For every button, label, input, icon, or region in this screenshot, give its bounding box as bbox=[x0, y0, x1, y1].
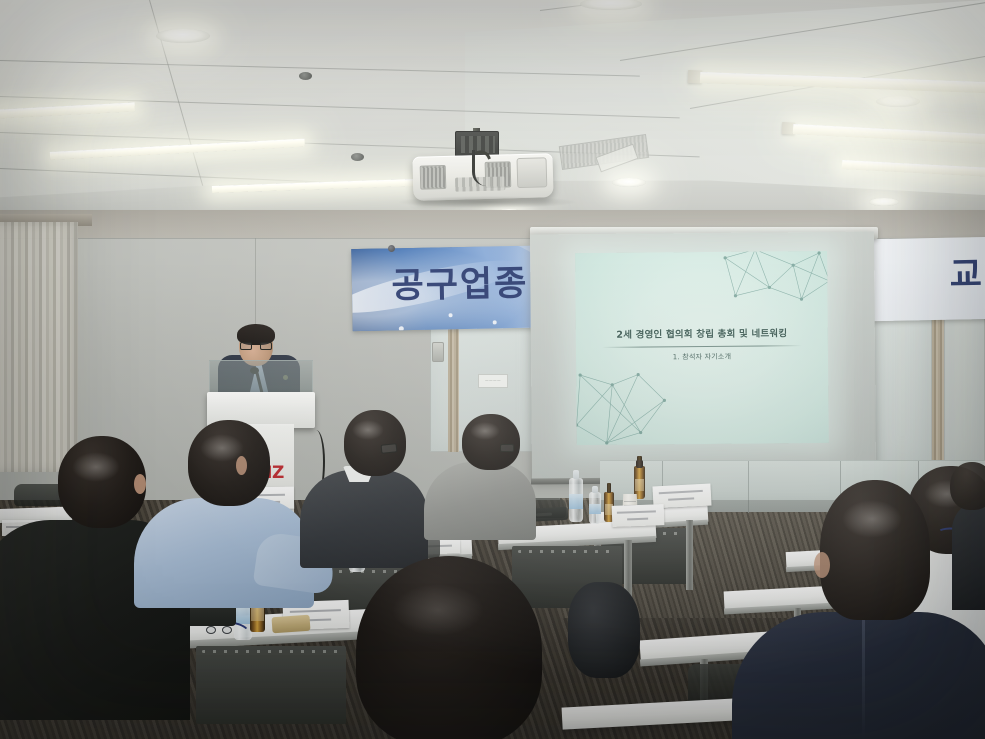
glasses-icon bbox=[381, 443, 398, 454]
backpack bbox=[568, 582, 640, 678]
attendee-head bbox=[58, 436, 146, 528]
ceiling-downlight bbox=[869, 198, 899, 206]
projector-shadow bbox=[399, 196, 575, 208]
hair-highlight bbox=[842, 500, 902, 538]
pencil-pouch bbox=[271, 615, 310, 634]
name-card bbox=[612, 504, 665, 527]
projector-cable bbox=[472, 150, 490, 186]
projector-lens bbox=[517, 157, 548, 188]
ceiling-downlight bbox=[876, 96, 920, 107]
hair-highlight bbox=[392, 584, 484, 636]
hair-highlight bbox=[72, 452, 120, 482]
attendee-torso bbox=[952, 500, 985, 610]
attendee-torso bbox=[732, 612, 985, 739]
slide-divider bbox=[602, 345, 802, 348]
slide-title: 2세 경영인 협의회 창립 총회 및 네트워킹 bbox=[576, 325, 828, 341]
hair-highlight bbox=[352, 420, 384, 440]
network-graphic-icon bbox=[721, 251, 829, 332]
conference-room-photo: ㅡㅡㅡㅡ 공구업종 교육 bbox=[0, 0, 985, 739]
banner-dot bbox=[449, 313, 453, 317]
podium-glass-panel bbox=[209, 360, 313, 396]
projection-screen: 2세 경영인 협의회 창립 총회 및 네트워킹 1. 참석자 자기소개 bbox=[530, 232, 876, 482]
glasses-icon bbox=[500, 444, 514, 452]
network-graphic-icon bbox=[575, 370, 677, 445]
attendee-torso bbox=[300, 470, 428, 568]
slide-subtitle: 1. 참석자 자기소개 bbox=[576, 351, 828, 363]
ear bbox=[814, 552, 830, 578]
banner-fastener bbox=[388, 245, 395, 252]
whiteboard-sign: ㅡㅡㅡㅡ bbox=[478, 374, 508, 388]
window-curtain bbox=[0, 222, 78, 472]
ear bbox=[236, 456, 247, 475]
glasses-icon bbox=[240, 342, 272, 350]
wall-control-panel[interactable] bbox=[432, 342, 444, 362]
ceiling-downlight bbox=[612, 178, 646, 187]
water-bottle bbox=[589, 492, 601, 524]
water-bottle bbox=[569, 478, 583, 522]
jacket-seam bbox=[862, 618, 865, 739]
attendee-head bbox=[188, 420, 270, 506]
ear bbox=[134, 474, 146, 494]
hair-highlight bbox=[470, 422, 500, 440]
ceiling-downlight bbox=[156, 29, 210, 43]
ceiling-speaker-icon bbox=[351, 153, 364, 161]
desk-modesty-panel bbox=[196, 646, 346, 724]
presentation-slide: 2세 경영인 협의회 창립 총회 및 네트워킹 1. 참석자 자기소개 bbox=[575, 251, 829, 445]
desk-leg bbox=[686, 520, 693, 590]
attendee-torso bbox=[424, 462, 536, 540]
projector-vent-grille bbox=[420, 165, 447, 190]
banner-dot bbox=[493, 320, 497, 324]
attendee-head bbox=[344, 410, 406, 476]
glasses-icon bbox=[206, 626, 232, 634]
ceiling-speaker-icon bbox=[299, 72, 312, 80]
attendee-head bbox=[356, 556, 542, 739]
attendee-head bbox=[950, 462, 985, 510]
bottle-cap bbox=[636, 460, 643, 468]
